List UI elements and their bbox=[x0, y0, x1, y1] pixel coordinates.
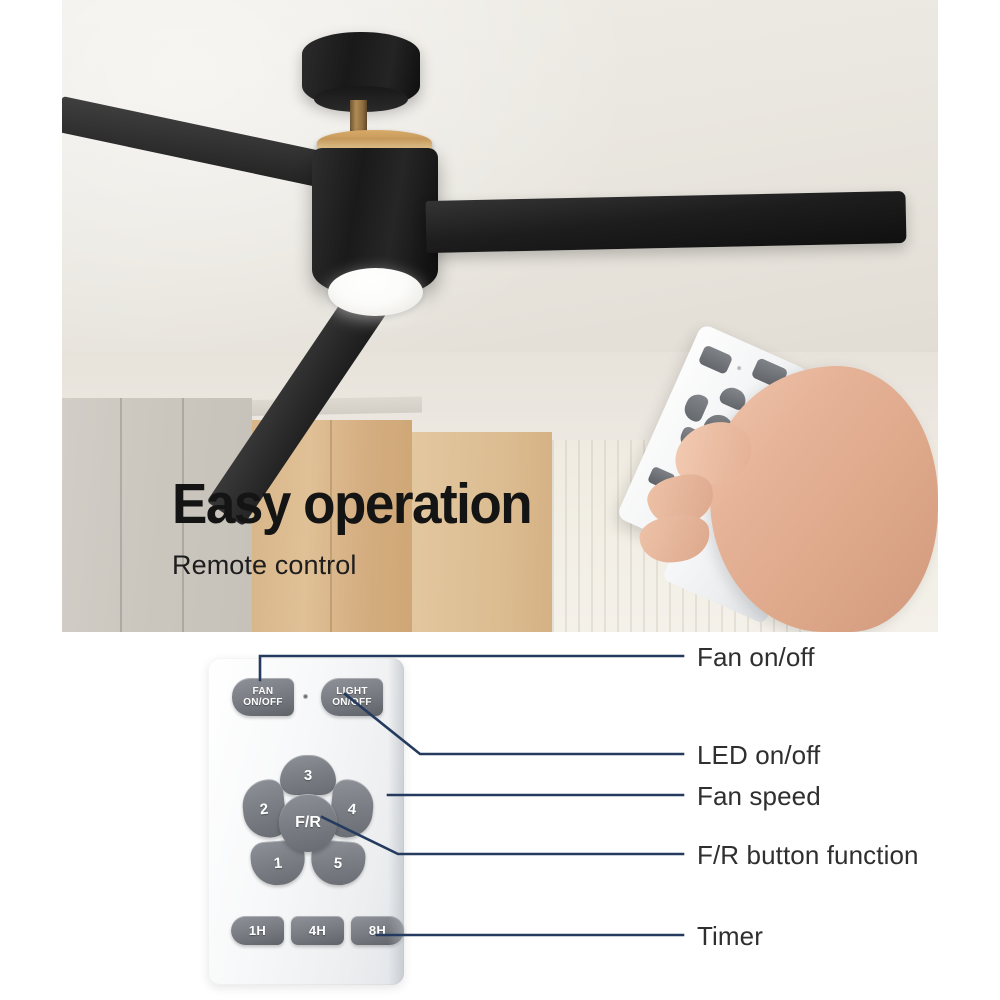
callout-label-fan-speed: Fan speed bbox=[697, 783, 821, 809]
ceiling-fan-photo bbox=[62, 0, 938, 632]
timer-button-1h[interactable]: 1H bbox=[231, 916, 284, 945]
light-button-line1: LIGHT bbox=[336, 686, 368, 698]
photo-ir-dot bbox=[737, 365, 742, 370]
product-feature-page: Easy operation Remote control FAN ON/OFF… bbox=[0, 0, 1000, 1000]
ir-led-icon bbox=[303, 694, 308, 699]
callout-label-led-onoff: LED on/off bbox=[697, 742, 820, 768]
timer-button-4h[interactable]: 4H bbox=[291, 916, 344, 945]
timer-button-8h[interactable]: 8H bbox=[351, 916, 404, 945]
page-subtitle: Remote control bbox=[172, 552, 356, 579]
light-button-line2: ON/OFF bbox=[332, 697, 372, 709]
fan-speed-dial: 3 2 4 1 5 F/R bbox=[238, 753, 378, 893]
remote-diagram-section: FAN ON/OFF LIGHT ON/OFF 3 2 4 1 5 F/R 1H… bbox=[0, 632, 1000, 1000]
remote-control-body: FAN ON/OFF LIGHT ON/OFF 3 2 4 1 5 F/R 1H… bbox=[208, 658, 404, 985]
photo-fan-button bbox=[698, 344, 734, 374]
callout-label-timer: Timer bbox=[697, 923, 763, 949]
hand-palm bbox=[710, 366, 938, 632]
hand-holding-remote bbox=[618, 330, 938, 632]
callout-label-fan-onoff: Fan on/off bbox=[697, 644, 815, 670]
fan-downrod-gold bbox=[350, 100, 367, 134]
hero-photo-panel: Easy operation Remote control bbox=[62, 0, 938, 632]
fr-button[interactable]: F/R bbox=[279, 794, 337, 852]
fan-on-off-button[interactable]: FAN ON/OFF bbox=[232, 678, 294, 716]
fan-led-light bbox=[328, 268, 423, 316]
callout-leader-lines bbox=[0, 632, 1000, 1000]
page-title: Easy operation bbox=[172, 476, 531, 533]
light-on-off-button[interactable]: LIGHT ON/OFF bbox=[321, 678, 383, 716]
fan-button-line1: FAN bbox=[253, 686, 274, 698]
fan-button-line2: ON/OFF bbox=[243, 697, 283, 709]
speed-button-3[interactable]: 3 bbox=[280, 755, 336, 795]
fan-blade-right bbox=[426, 191, 907, 253]
callout-label-fr-button: F/R button function bbox=[697, 842, 919, 868]
